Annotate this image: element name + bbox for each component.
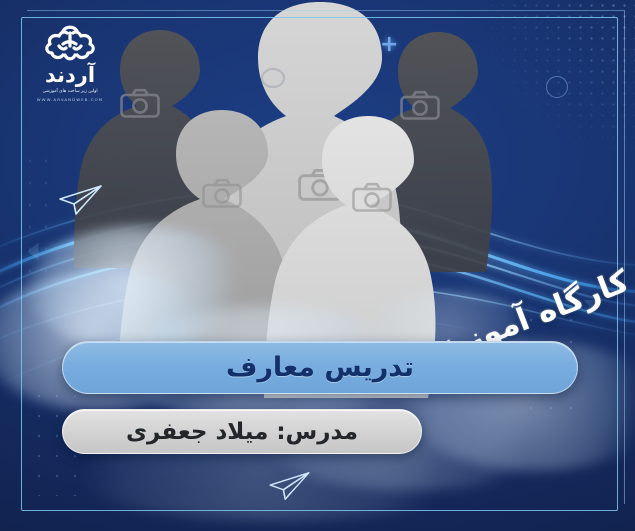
poster-canvas: +	[0, 0, 635, 531]
instructor-banner: مدرس: میلاد جعفری	[62, 409, 422, 454]
brand-website: WWW.ARVANDWEB.COM	[24, 97, 116, 102]
circle-outline-icon	[546, 76, 568, 98]
brain-icon	[24, 22, 116, 64]
plus-mark-icon: +	[380, 34, 398, 56]
course-title-text: تدریس معارف	[226, 352, 414, 383]
course-title-banner: تدریس معارف	[62, 341, 578, 394]
brand-tagline: اولین زیر ساخت های آموزشی	[24, 89, 116, 96]
avatar-center-tall	[200, 2, 401, 336]
paper-plane-icon	[266, 470, 312, 502]
avatar-back-right	[352, 32, 492, 272]
dot-grid-top-right	[465, 0, 635, 150]
brand-name: آرد‌ند	[24, 65, 116, 86]
instructor-text: مدرس: میلاد جعفری	[126, 419, 358, 445]
triangle-marker-icon	[28, 243, 39, 261]
brand-logo: آرد‌ند اولین زیر ساخت های آموزشی WWW.ARV…	[24, 22, 116, 102]
paper-plane-icon	[56, 183, 104, 217]
cloud-shape	[25, 226, 255, 351]
dot-grid-left-middle	[22, 150, 56, 300]
